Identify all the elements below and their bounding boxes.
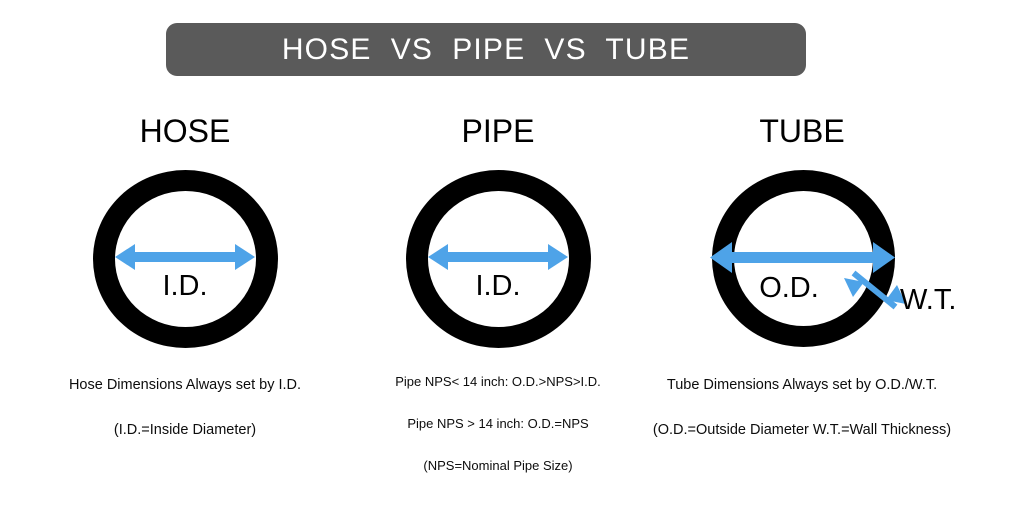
hose-dimension-label-id: I.D. <box>15 270 355 302</box>
column-tube: TUBE O.D. W.T. <box>632 112 972 396</box>
tube-figure: O.D. W.T. <box>632 156 972 396</box>
outside-diameter-arrow <box>710 242 895 273</box>
column-heading-tube: TUBE <box>632 112 972 150</box>
pipe-dimension-label-id: I.D. <box>328 270 668 302</box>
tube-caption-line-1: Tube Dimensions Always set by O.D./W.T. <box>622 374 982 396</box>
inside-diameter-arrow <box>115 244 255 270</box>
pipe-figure: I.D. <box>328 156 668 396</box>
title-banner: HOSE VS PIPE VS TUBE <box>166 23 806 76</box>
hose-caption-line-2: (I.D.=Inside Diameter) <box>5 419 365 441</box>
tube-captions: Tube Dimensions Always set by O.D./W.T. … <box>622 374 982 441</box>
inside-diameter-arrow <box>428 244 568 270</box>
column-heading-hose: HOSE <box>15 112 355 150</box>
column-pipe: PIPE I.D. <box>328 112 668 396</box>
column-hose: HOSE I.D. <box>15 112 355 396</box>
diagram-canvas: HOSE VS PIPE VS TUBE HOSE I.D. Hose Dime… <box>0 0 1030 513</box>
page-title: HOSE VS PIPE VS TUBE <box>282 33 690 67</box>
hose-captions: Hose Dimensions Always set by I.D. (I.D.… <box>5 374 365 441</box>
column-heading-pipe: PIPE <box>328 112 668 150</box>
hose-caption-line-1: Hose Dimensions Always set by I.D. <box>5 374 365 396</box>
tube-caption-line-2: (O.D.=Outside Diameter W.T.=Wall Thickne… <box>622 419 982 441</box>
hose-figure: I.D. <box>15 156 355 396</box>
pipe-caption-line-3: (NPS=Nominal Pipe Size) <box>318 456 678 476</box>
tube-dimension-label-wt: W.T. <box>900 284 956 316</box>
tube-dimension-label-od: O.D. <box>632 272 946 304</box>
